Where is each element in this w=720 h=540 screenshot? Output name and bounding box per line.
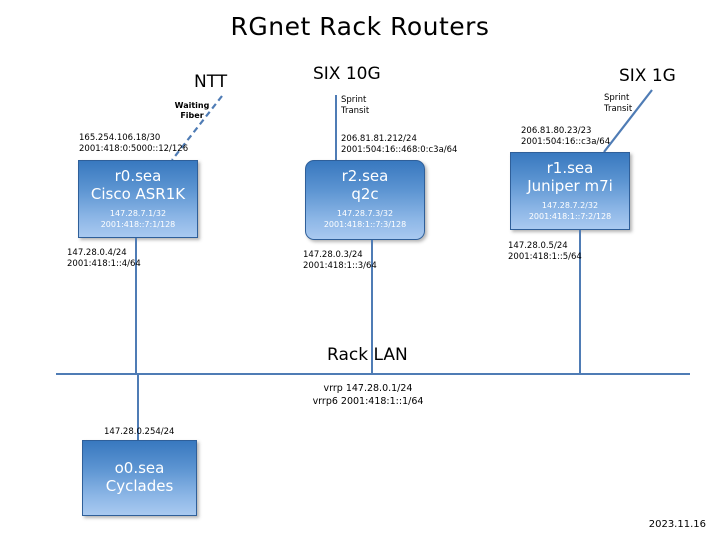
vrrp-v6: vrrp6 2001:418:1::1/64: [288, 396, 448, 409]
console-lan-v4: 147.28.0.254/24: [104, 427, 174, 438]
ntt-status-line1: Waiting: [162, 101, 222, 111]
vrrp-addresses: vrrp 147.28.0.1/24 vrrp6 2001:418:1::1/6…: [288, 383, 448, 409]
rack-lan-label: Rack LAN: [327, 345, 408, 365]
diagram-canvas: RGnet Rack Routers NTT SIX 10G SIX 1G Wa…: [0, 0, 720, 540]
r0-loopback-v6: 2001:418::7:1/128: [101, 220, 176, 230]
uplink-label-ntt: NTT: [194, 72, 227, 92]
r0-lan-addresses: 147.28.0.4/24 2001:418:1::4/64: [67, 248, 141, 270]
r2-uplink-v6: 2001:504:16::468:0:c3a/64: [341, 145, 457, 156]
r1-loopback-v6: 2001:418:1::7:2/128: [529, 212, 611, 222]
six-10g-transit-note: Sprint Transit: [341, 95, 369, 117]
console-server-node[interactable]: o0.sea Cyclades: [82, 440, 197, 516]
six-1g-transit-note: Sprint Transit: [604, 93, 632, 115]
r1-lan-addresses: 147.28.0.5/24 2001:418:1::5/64: [508, 241, 582, 263]
ntt-status-line2: Fiber: [162, 111, 222, 121]
r1-loopbacks: 147.28.7.2/32 2001:418:1::7:2/128: [529, 201, 611, 222]
r2-loopbacks: 147.28.7.3/32 2001:418:1::7:3/128: [324, 209, 406, 230]
r0-uplink-v6: 2001:418:0:5000::12/126: [79, 144, 188, 155]
r0-uplink-v4: 165.254.106.18/30: [79, 133, 188, 144]
r2-lan-addresses: 147.28.0.3/24 2001:418:1::3/64: [303, 250, 377, 272]
console-hostname: o0.sea: [115, 460, 165, 478]
r1-lan-v4: 147.28.0.5/24: [508, 241, 582, 252]
r0-lan-v4: 147.28.0.4/24: [67, 248, 141, 259]
six-10g-uplink-line: [335, 95, 337, 160]
r1-lan-v6: 2001:418:1::5/64: [508, 252, 582, 263]
six-10g-transit-line1: Sprint: [341, 95, 369, 106]
r0-lan-v6: 2001:418:1::4/64: [67, 259, 141, 270]
r2-hostname: r2.sea: [342, 168, 389, 186]
r2-loopback-v4: 147.28.7.3/32: [324, 209, 406, 219]
r1-uplink-v4: 206.81.80.23/23: [521, 126, 610, 137]
ntt-status-note: Waiting Fiber: [162, 101, 222, 120]
r1-model: Juniper m7i: [527, 178, 613, 196]
six-1g-transit-line2: Transit: [604, 104, 632, 115]
uplink-label-six-10g: SIX 10G: [313, 64, 381, 84]
r0-loopbacks: 147.28.7.1/32 2001:418::7:1/128: [101, 209, 176, 230]
six-10g-transit-line2: Transit: [341, 106, 369, 117]
r0-loopback-v4: 147.28.7.1/32: [101, 209, 176, 219]
r1-loopback-v4: 147.28.7.2/32: [529, 201, 611, 211]
r2-model: q2c: [351, 186, 378, 204]
r2-loopback-v6: 2001:418:1::7:3/128: [324, 220, 406, 230]
router-node-r1[interactable]: r1.sea Juniper m7i 147.28.7.2/32 2001:41…: [510, 152, 630, 230]
console-lan-address-wrap: 147.28.0.254/24: [104, 427, 174, 438]
r1-uplink-v6: 2001:504:16::c3a/64: [521, 137, 610, 148]
router-node-r0[interactable]: r0.sea Cisco ASR1K 147.28.7.1/32 2001:41…: [78, 160, 198, 238]
r2-uplink-v4: 206.81.81.212/24: [341, 134, 457, 145]
console-model: Cyclades: [106, 478, 174, 496]
r0-uplink-addresses: 165.254.106.18/30 2001:418:0:5000::12/12…: [79, 133, 188, 155]
six-1g-transit-line1: Sprint: [604, 93, 632, 104]
uplink-label-six-1g: SIX 1G: [619, 66, 676, 86]
r2-lan-v4: 147.28.0.3/24: [303, 250, 377, 261]
r0-model: Cisco ASR1K: [91, 186, 185, 204]
vrrp-v4: vrrp 147.28.0.1/24: [288, 383, 448, 396]
r1-hostname: r1.sea: [547, 160, 594, 178]
r0-hostname: r0.sea: [115, 168, 162, 186]
page-title: RGnet Rack Routers: [0, 12, 720, 41]
r2-lan-v6: 2001:418:1::3/64: [303, 261, 377, 272]
r1-uplink-addresses: 206.81.80.23/23 2001:504:16::c3a/64: [521, 126, 610, 148]
router-node-r2[interactable]: r2.sea q2c 147.28.7.3/32 2001:418:1::7:3…: [305, 160, 425, 240]
document-date: 2023.11.16: [649, 519, 706, 530]
r2-uplink-addresses: 206.81.81.212/24 2001:504:16::468:0:c3a/…: [341, 134, 457, 156]
rack-lan-bus: [56, 373, 690, 375]
